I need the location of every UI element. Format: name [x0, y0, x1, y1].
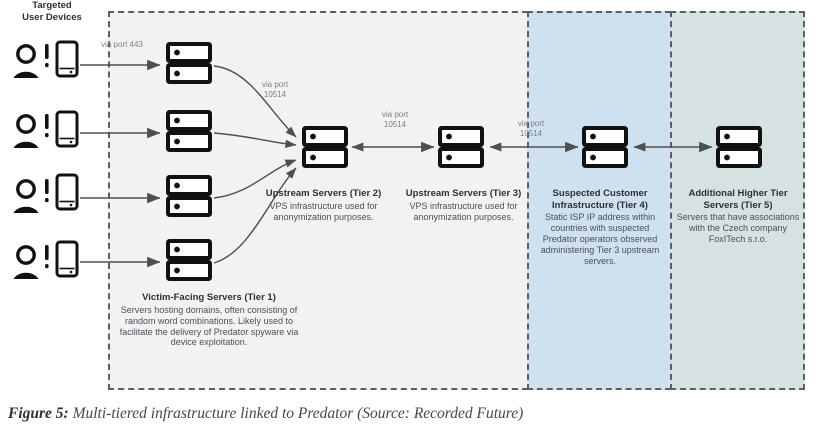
- arrow-device-to-tier1: [80, 65, 160, 262]
- tier5-body: Servers that have associations with the …: [677, 212, 800, 244]
- diagram-canvas: via port 443 via port 10514 via port 105…: [0, 0, 816, 437]
- port-label-line2: 10514: [264, 90, 286, 99]
- tier5-title: Additional Higher Tier Servers (Tier 5): [676, 188, 800, 211]
- port-label-10514-tier1-tier2: via port 10514: [252, 80, 298, 100]
- figure-caption: Figure 5: Multi-tiered infrastructure li…: [8, 405, 808, 423]
- port-label-line1: via port: [518, 119, 544, 128]
- label-tier2: Upstream Servers (Tier 2) VPS infrastruc…: [256, 188, 391, 223]
- label-tier4: Suspected Customer Infrastructure (Tier …: [536, 188, 664, 267]
- server-icon: [168, 112, 210, 150]
- tier1-server-stack-group: [168, 44, 210, 279]
- device-icon-group: [14, 42, 78, 279]
- tier1-title: Victim-Facing Servers (Tier 1): [114, 292, 304, 304]
- port-label-10514-tier3-tier4: via port 10514: [508, 119, 554, 139]
- figure-caption-text: Multi-tiered infrastructure linked to Pr…: [69, 405, 524, 422]
- server-icon: [168, 177, 210, 215]
- server-icon: [168, 44, 210, 82]
- tier5-server-icon: [718, 128, 760, 166]
- tier4-server-icon: [584, 128, 626, 166]
- port-label-line1: via port: [382, 110, 408, 119]
- tier3-body: VPS infrastructure used for anonymizatio…: [409, 201, 517, 222]
- port-label-line2: 10514: [384, 120, 406, 129]
- port-label-line1: via port: [262, 80, 288, 89]
- tier4-title: Suspected Customer Infrastructure (Tier …: [536, 188, 664, 211]
- tier2-body: VPS infrastructure used for anonymizatio…: [269, 201, 377, 222]
- user-alert-smartphone-icon: [14, 242, 78, 279]
- figure-number: Figure 5:: [8, 405, 69, 422]
- tier3-title: Upstream Servers (Tier 3): [396, 188, 531, 200]
- tier2-title: Upstream Servers (Tier 2): [256, 188, 391, 200]
- tier1-body: Servers hosting domains, often consistin…: [120, 305, 299, 348]
- user-alert-smartphone-icon: [14, 112, 78, 148]
- label-tier1: Victim-Facing Servers (Tier 1) Servers h…: [114, 292, 304, 348]
- tier2-server-icon: [304, 128, 346, 166]
- label-tier5: Additional Higher Tier Servers (Tier 5) …: [676, 188, 800, 245]
- user-alert-smartphone-icon: [14, 175, 78, 213]
- tier3-server-icon: [440, 128, 482, 166]
- user-alert-smartphone-icon: [14, 42, 78, 78]
- port-label-line2: 10514: [520, 129, 542, 138]
- tier4-body: Static ISP IP address within countries w…: [541, 212, 660, 266]
- port-label-10514-tier2-tier3: via port 10514: [372, 110, 418, 130]
- label-tier3: Upstream Servers (Tier 3) VPS infrastruc…: [396, 188, 531, 223]
- port-label-443: via port 443: [84, 40, 160, 50]
- server-icon: [168, 241, 210, 279]
